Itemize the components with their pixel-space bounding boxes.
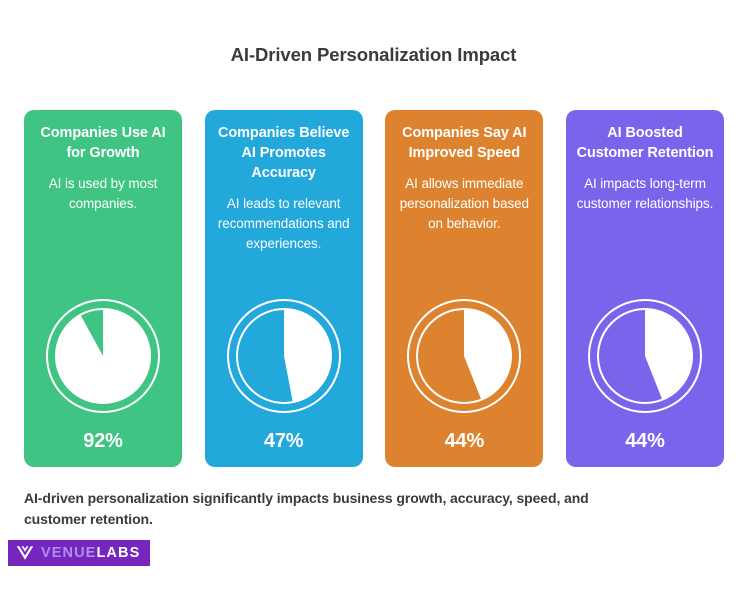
card-description: AI allows immediate personalization base…: [393, 174, 535, 234]
logo-text-venue: VENUE: [41, 545, 96, 561]
venuelabs-logo: VENUE LABS: [8, 540, 150, 566]
logo-text-labs: LABS: [96, 545, 140, 561]
card-value-label: 92%: [24, 430, 182, 453]
pie-chart: [225, 297, 343, 415]
card-value-label: 44%: [566, 430, 724, 453]
card-title: Companies Say AI Improved Speed: [393, 123, 535, 163]
stat-card[interactable]: AI Boosted Customer RetentionAI impacts …: [566, 110, 724, 467]
stat-card[interactable]: Companies Believe AI Promotes AccuracyAI…: [205, 110, 363, 467]
card-title: Companies Use AI for Growth: [32, 123, 174, 163]
stat-card[interactable]: Companies Use AI for GrowthAI is used by…: [24, 110, 182, 467]
card-description: AI impacts long-term customer relationsh…: [574, 174, 716, 214]
pie-value-slice: [284, 309, 331, 402]
chevron-v-logo-icon: [16, 545, 34, 561]
pie-chart: [44, 297, 162, 415]
card-value-label: 47%: [205, 430, 363, 453]
card-description: AI leads to relevant recommendations and…: [213, 194, 355, 254]
card-description: AI is used by most companies.: [32, 174, 174, 214]
pie-chart: [405, 297, 523, 415]
footer-caption: AI-driven personalization significantly …: [24, 488, 624, 530]
card-title: AI Boosted Customer Retention: [574, 123, 716, 163]
stat-card[interactable]: Companies Say AI Improved SpeedAI allows…: [385, 110, 543, 467]
card-value-label: 44%: [385, 430, 543, 453]
pie-chart: [586, 297, 704, 415]
card-title: Companies Believe AI Promotes Accuracy: [213, 123, 355, 183]
stat-card-row: Companies Use AI for GrowthAI is used by…: [24, 110, 724, 467]
page-title: AI-Driven Personalization Impact: [0, 44, 747, 66]
